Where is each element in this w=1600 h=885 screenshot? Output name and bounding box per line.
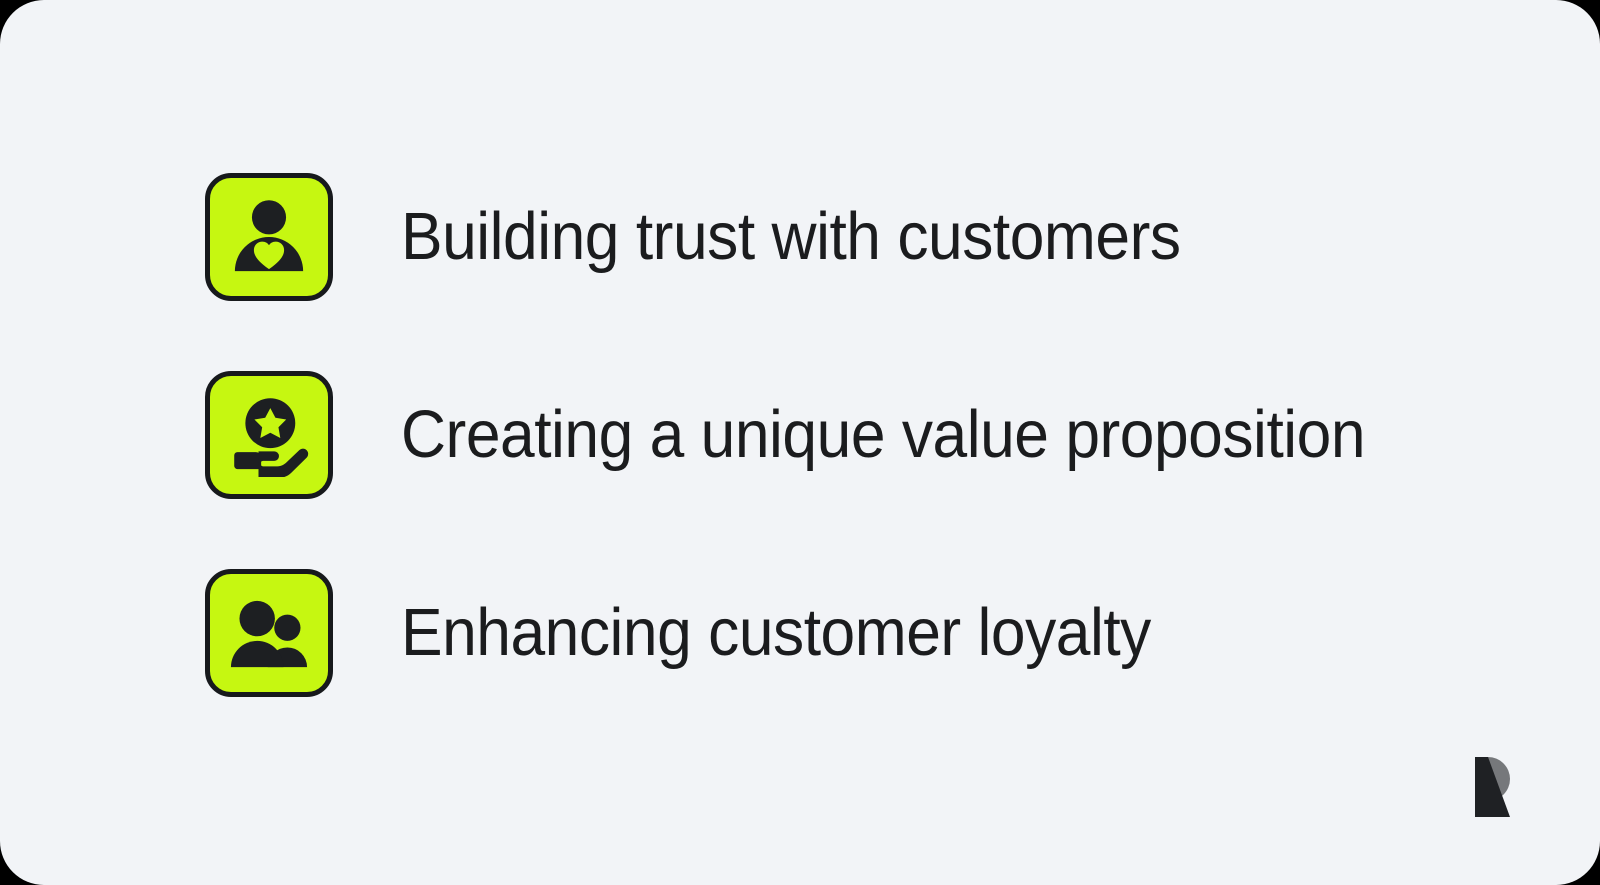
- list-item-label: Creating a unique value proposition: [401, 400, 1365, 470]
- benefits-list: Building trust with customers Creating a…: [205, 173, 1438, 697]
- list-item-label: Enhancing customer loyalty: [401, 598, 1151, 668]
- hand-holding-star-icon: [227, 393, 311, 477]
- person-heart-icon: [227, 195, 311, 279]
- icon-tile-two-people: [205, 569, 333, 697]
- list-item: Creating a unique value proposition: [205, 371, 1438, 499]
- list-item-label: Building trust with customers: [401, 202, 1181, 272]
- two-people-icon: [227, 591, 311, 675]
- icon-tile-hand-star: [205, 371, 333, 499]
- icon-tile-person-heart: [205, 173, 333, 301]
- list-item: Building trust with customers: [205, 173, 1438, 301]
- list-item: Enhancing customer loyalty: [205, 569, 1438, 697]
- content-card: Building trust with customers Creating a…: [0, 0, 1600, 885]
- brand-logo-r: [1466, 751, 1522, 823]
